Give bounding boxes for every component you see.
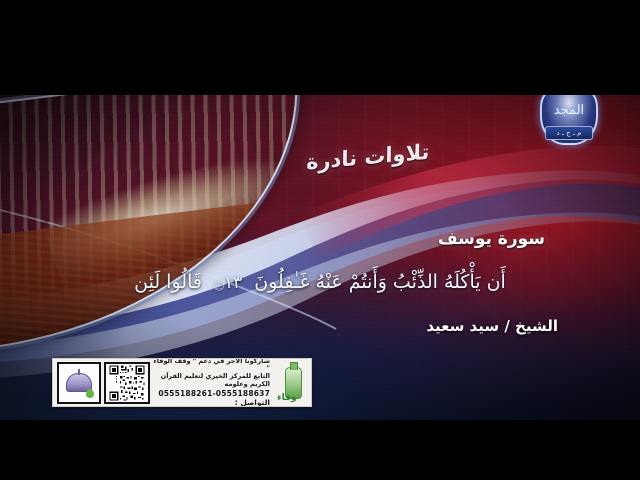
sponsor-contact-label: التواصل : [235, 398, 270, 407]
sponsor-phones: 0555188261-0555188637 [158, 389, 270, 398]
sponsor-text-block: شاركونا الأجر في دعم " وقف الوفاء " التا… [150, 358, 275, 407]
video-frame: المجد م ـ ج ـ د تلاوات نادرة سورة يوسف أ… [0, 95, 640, 420]
logo-base-plate: م ـ ج ـ د [545, 126, 594, 140]
qr-code[interactable] [104, 362, 150, 404]
ayah-continuation: قَالُوا لَئِن [134, 271, 202, 293]
ayah-number-marker: ۝١٣ [214, 272, 242, 293]
sponsor-line-2: التابع للمركز الخيري لتعليم القرآن الكري… [152, 373, 270, 389]
letterbox-bottom [0, 420, 640, 480]
waqf-al-wafa-logo [57, 362, 101, 404]
ayah-marker-glyph: ۝ [214, 273, 224, 293]
sponsor-banner: وفاء شاركونا الأجر في دعم " وقف الوفاء "… [52, 358, 312, 407]
ayah-text: أَن يَأْكُلَهُ الذِّئْبُ وَأَنتُمْ عَنْه… [254, 271, 506, 293]
waqf-mark-glyph: وفاء [277, 393, 296, 403]
video-player-surface: المجد م ـ ج ـ د تلاوات نادرة سورة يوسف أ… [0, 0, 640, 480]
surah-name-label: سورة يوسف [438, 229, 545, 249]
letterbox-top [0, 0, 640, 95]
sponsor-contact-line: 0555188261-0555188637 التواصل : [152, 389, 270, 407]
ayah-number: ١٣ [224, 273, 242, 293]
reciter-name-label: الشيخ / سيد سعيد [426, 317, 558, 335]
ayah-text-line: أَن يَأْكُلَهُ الذِّئْبُ وَأَنتُمْ عَنْه… [0, 271, 640, 293]
water-drop-icon [86, 389, 94, 398]
logo-arabic-wordmark: المجد [540, 104, 598, 117]
channel-logo: المجد م ـ ج ـ د [540, 95, 598, 145]
water-bottle-icon: وفاء [275, 359, 311, 406]
